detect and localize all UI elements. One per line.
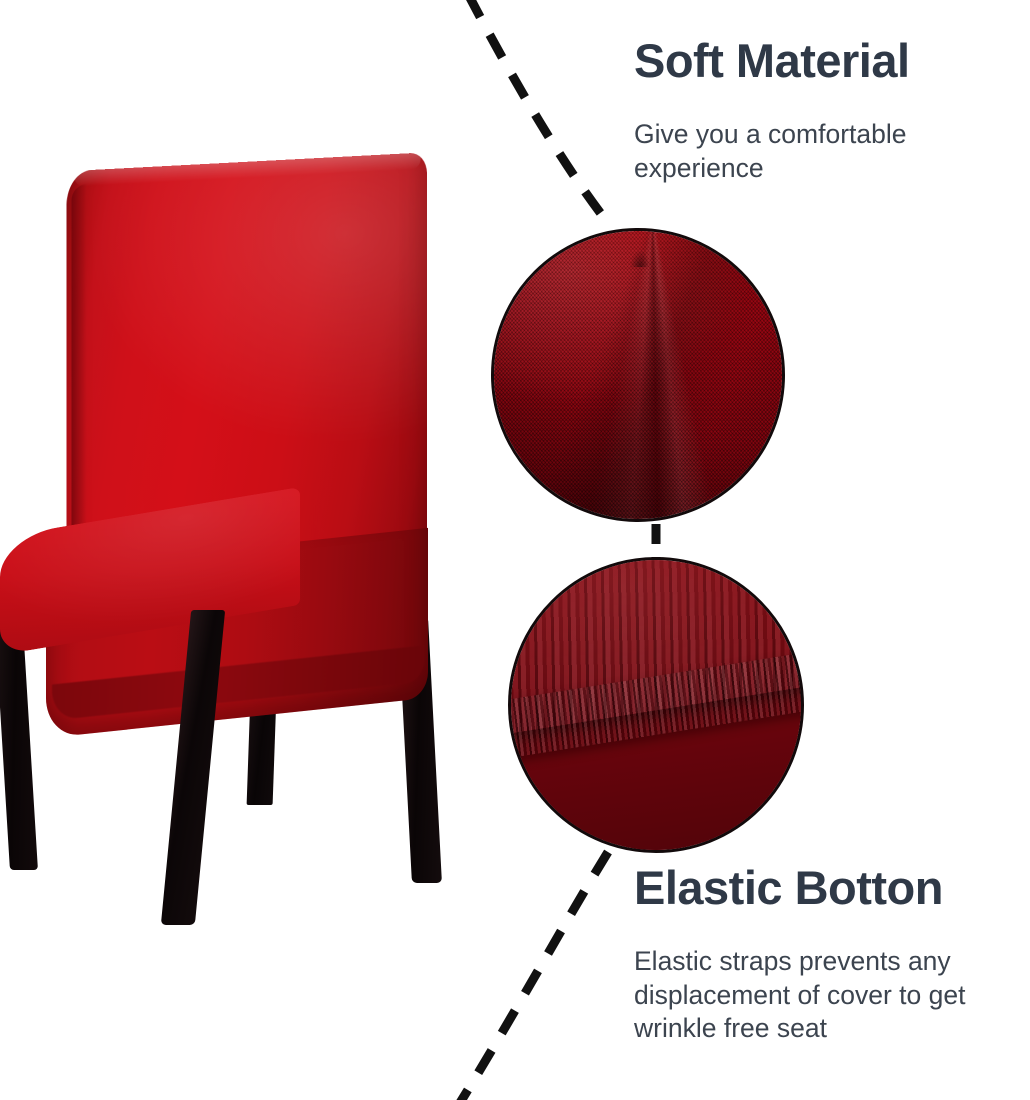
feature-body-soft-material: Give you a comfortable experience [634, 118, 1014, 185]
feature-title-elastic-botton: Elastic Botton [634, 864, 943, 911]
product-chair-image [0, 140, 500, 950]
fabric-texture-detail-circle [491, 228, 785, 522]
fabric-texture-icon [494, 231, 782, 519]
infographic-canvas: Soft Material Give you a comfortable exp… [0, 0, 1030, 1100]
feature-title-soft-material: Soft Material [634, 37, 910, 84]
elastic-hem-icon [511, 560, 801, 850]
elastic-hem-detail-circle [508, 557, 804, 853]
elastic-vignette [511, 560, 801, 850]
feature-body-elastic-botton: Elastic straps prevents any displacement… [634, 945, 1016, 1046]
